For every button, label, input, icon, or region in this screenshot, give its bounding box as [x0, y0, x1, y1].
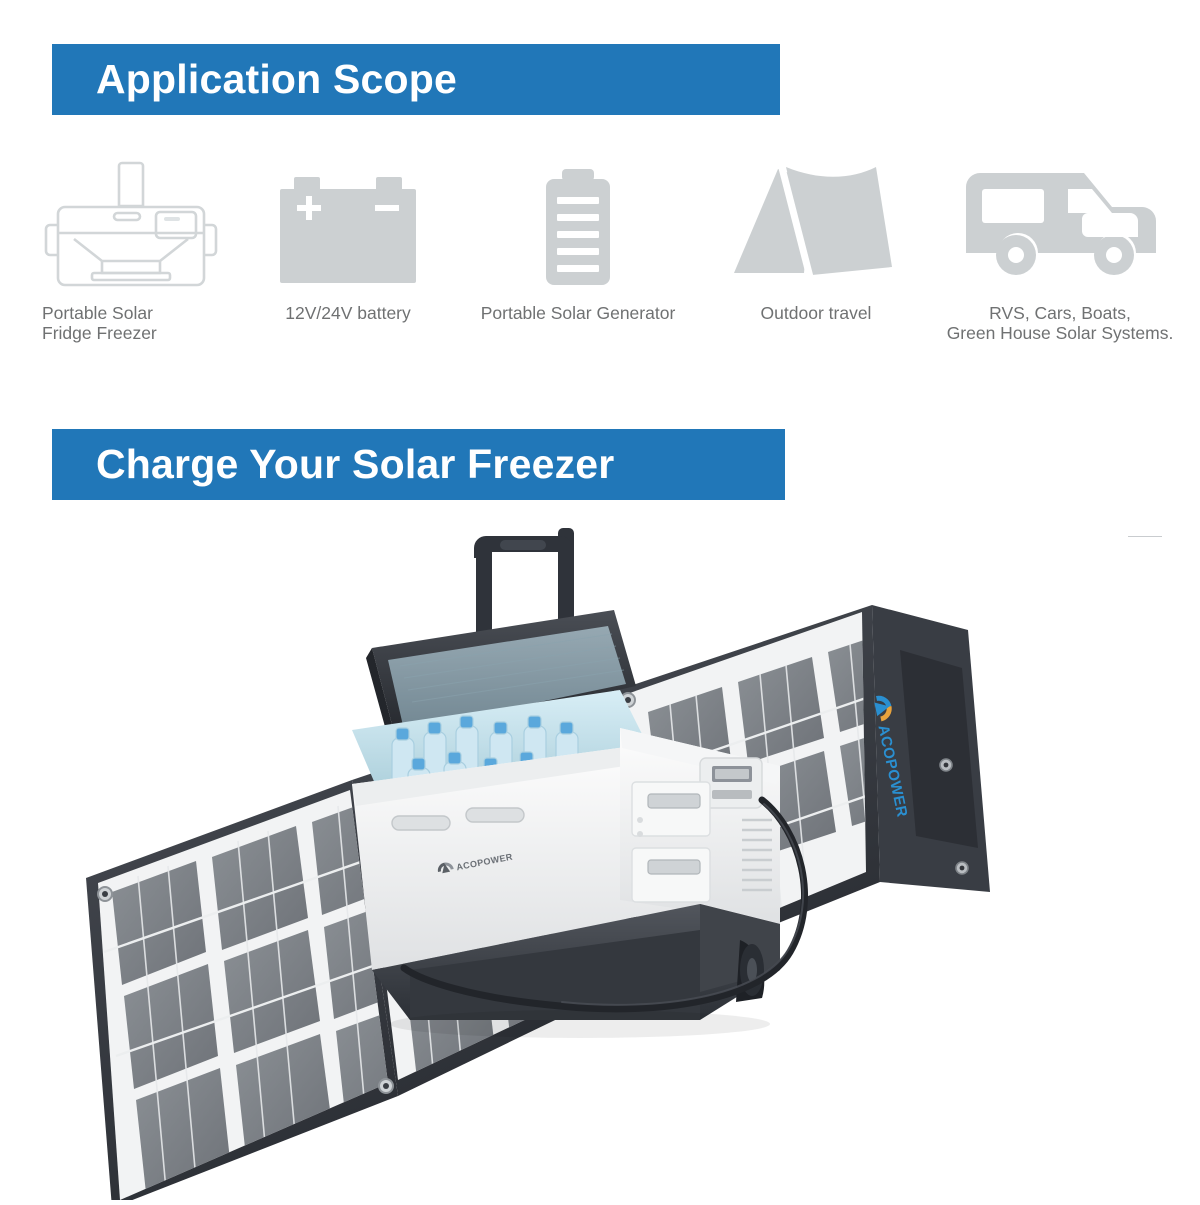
rv-camper-van-icon — [920, 155, 1200, 295]
portable-power-station-battery-icon — [452, 155, 704, 295]
scope-item-portable-solar-generator: Portable Solar Generator — [452, 155, 704, 323]
portable-solar-fridge-freezer: ACOPOWER — [352, 528, 780, 1038]
scope-item-outdoor-travel: Outdoor travel — [716, 155, 916, 323]
application-scope-title: Application Scope — [52, 59, 457, 100]
scope-item-label: Outdoor travel — [716, 303, 916, 323]
application-scope-icon-row: Portable Solar Fridge Freezer — [0, 155, 1200, 365]
section-banner-application-scope: Application Scope — [52, 44, 780, 115]
scope-item-rv-cars-boats: RVS, Cars, Boats, Green House Solar Syst… — [920, 155, 1200, 343]
product-scene-solar-panel-and-fridge: ACOPOWER — [0, 500, 1200, 1200]
car-battery-icon — [252, 155, 444, 295]
portable-fridge-freezer-icon — [36, 155, 246, 295]
section-banner-charge-your-solar-freezer: Charge Your Solar Freezer — [52, 429, 785, 500]
marketing-page: Application Scope — [0, 0, 1200, 1200]
scope-item-portable-fridge-freezer: Portable Solar Fridge Freezer — [36, 155, 246, 343]
charge-freezer-title: Charge Your Solar Freezer — [52, 444, 614, 485]
camping-tent-icon — [716, 155, 916, 295]
panel-grommet — [98, 887, 112, 901]
scope-item-label: 12V/24V battery — [252, 303, 444, 323]
scope-item-label: RVS, Cars, Boats, Green House Solar Syst… — [920, 303, 1200, 343]
scope-item-label: Portable Solar Fridge Freezer — [36, 303, 246, 343]
scope-item-label: Portable Solar Generator — [452, 303, 704, 323]
scope-item-car-battery: 12V/24V battery — [252, 155, 444, 323]
